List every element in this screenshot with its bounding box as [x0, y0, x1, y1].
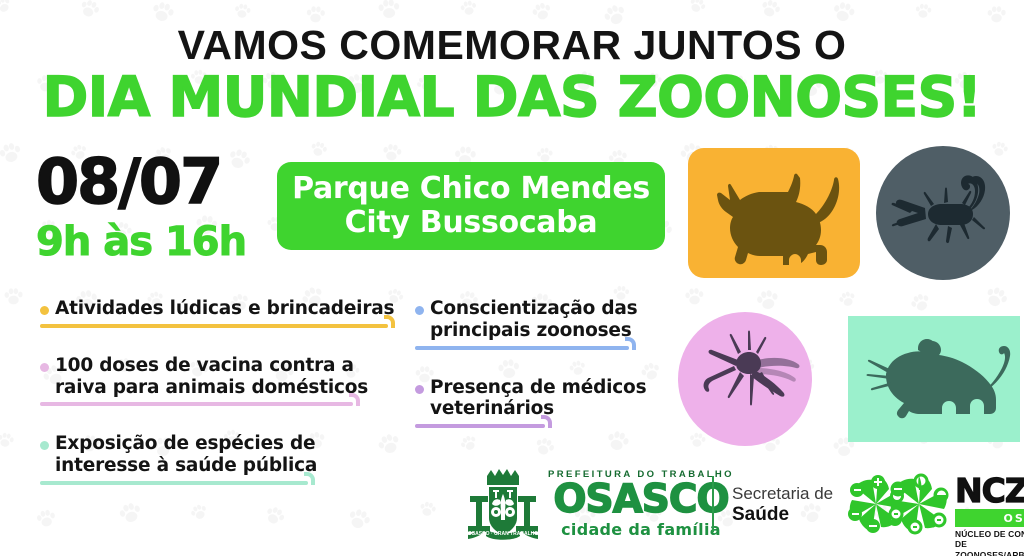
ncz-city-bar: OSASCO: [955, 509, 1024, 527]
osasco-tagline: cidade da família: [561, 520, 721, 539]
footer-logos: OSASCO · GRAN TRABALHO PREFEITURA DO TRA…: [0, 462, 1024, 556]
rat-tile: [848, 316, 1020, 442]
bullet-underline: [40, 321, 400, 334]
bullet-underline: [415, 421, 665, 434]
poster-headline: VAMOS COMEMORAR JUNTOS O DIA MUNDIAL DAS…: [0, 24, 1024, 127]
headline-line-2: DIA MUNDIAL DAS ZOONOSES!: [0, 69, 1024, 127]
bullet-text-line: principais zoonoses: [430, 320, 632, 341]
ncz-pinwheel-icon: [888, 472, 950, 536]
headline-line-1: VAMOS COMEMORAR JUNTOS O: [0, 24, 1024, 67]
list-item: Presença de médicosveterinários: [415, 377, 665, 435]
saude-logo: Secretaria de Saúde: [732, 484, 833, 525]
bullet-text-line: 100 doses de vacina contra a: [55, 355, 354, 376]
bullet-text-line: Presença de médicos: [430, 377, 646, 398]
bullet-dot-icon: [40, 306, 49, 315]
bullet-text-line: Conscientização das: [430, 298, 637, 319]
bullet-text: Atividades lúdicas e brincadeiras: [55, 298, 394, 320]
list-item: Conscientização dasprincipais zoonoses: [415, 298, 665, 356]
saude-line-2: Saúde: [732, 504, 833, 526]
venue-line-1: Parque Chico Mendes: [292, 172, 650, 206]
list-item: 100 doses de vacina contra araiva para a…: [40, 355, 400, 413]
ncz-logo: NCZ OSASCO NÚCLEO DE CONTROLE DE ZOONOSE…: [888, 472, 1024, 556]
bullet-underline: [40, 399, 400, 412]
osasco-motto: OSASCO · GRAN TRABALHO: [468, 531, 538, 537]
ncz-subtitle-line-1: NÚCLEO DE CONTROLE DE: [955, 529, 1024, 551]
scorpion-icon: [876, 146, 1010, 280]
osasco-name: OSASCO: [553, 481, 728, 518]
event-date-time: 08/07 9h às 16h: [36, 152, 246, 263]
bullet-dot-icon: [415, 306, 424, 315]
bullet-text-line: Atividades lúdicas e brincadeiras: [55, 298, 394, 319]
event-date: 08/07: [36, 152, 246, 213]
list-item: Atividades lúdicas e brincadeiras: [40, 298, 400, 334]
bullet-text: Presença de médicosveterinários: [430, 377, 646, 421]
activities-list-right: Conscientização dasprincipais zoonosesPr…: [415, 298, 665, 455]
ncz-title: NCZ: [955, 476, 1024, 506]
bullet-dot-icon: [415, 385, 424, 394]
osasco-logo: OSASCO · GRAN TRABALHO PREFEITURA DO TRA…: [466, 466, 734, 542]
scorpion-tile: [876, 146, 1010, 280]
bullet-dot-icon: [40, 441, 49, 450]
bullet-text: 100 doses de vacina contra araiva para a…: [55, 355, 368, 399]
saude-line-1: Secretaria de: [732, 484, 833, 504]
mosquito-tile: [678, 312, 812, 446]
ncz-subtitle-line-2: ZOONOSES/ARBOVIROSES: [955, 550, 1024, 556]
bullet-underline: [415, 343, 665, 356]
rat-icon: [848, 316, 1020, 442]
bullet-text-line: veterinários: [430, 398, 554, 419]
cat-icon: [688, 148, 860, 278]
bullet-text-line: Exposição de espécies de: [55, 433, 315, 454]
event-time: 9h às 16h: [36, 221, 246, 263]
footer-divider: [712, 476, 714, 532]
ncz-city: OSASCO: [1004, 512, 1024, 525]
osasco-coat-of-arms-icon: OSASCO · GRAN TRABALHO: [466, 466, 540, 542]
venue-line-2: City Bussocaba: [345, 206, 598, 240]
bullet-text-line: raiva para animais domésticos: [55, 377, 368, 398]
cat-tile: [688, 148, 860, 278]
bullet-text: Conscientização dasprincipais zoonoses: [430, 298, 637, 342]
event-venue-badge: Parque Chico Mendes City Bussocaba: [277, 162, 665, 250]
mosquito-icon: [678, 312, 812, 446]
bullet-dot-icon: [40, 363, 49, 372]
